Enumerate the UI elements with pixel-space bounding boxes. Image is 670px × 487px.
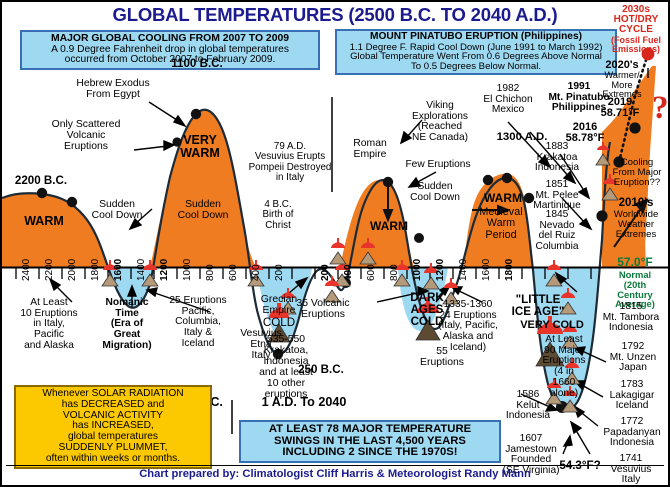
label-era-ad: 1 A.D. To 2040 [240,396,368,409]
axis-tick-600: 600 [228,264,239,281]
annotation-mt-tambora: 1815 Mt. Tambora Indonesia [594,302,668,334]
annotation-sudden-cool-1: Sudden Cool Down [80,200,154,222]
solar-radiation-info-box: Whenever SOLAR RADIATION has DECREASED a… [14,385,212,469]
annotation-roman-empire: Roman Empire [340,139,400,161]
annotation-el-chichon: 1982 El Chichon Mexico [472,84,544,116]
annotation-sudden-cool-2: Sudden Cool Down [166,200,240,222]
label-very-warm: VERY WARM [170,134,230,160]
decade-2010s-label: 2010's Worldwide Weather Extremes [604,198,668,240]
papa-line3: Indonesia [596,438,668,449]
nomanic-line5: Migration) [90,341,164,352]
axis-tick-2200: 2200 [44,259,55,281]
axis-tick-1200: 1200 [159,259,170,281]
annotation-35-volcanic: 35 Volcanic Eruptions [284,299,362,321]
axis-tick-1400: 1400 [136,259,147,281]
annotation-papadanyan: 1772 Papadanyan Indonesia [596,417,668,449]
annotation-lakagigar: 1783 Lakagigar Iceland [598,380,666,412]
label-2200-bc: 2200 B.C. [5,175,77,187]
label-2010s-line3: Extremes [604,230,668,240]
pinatubo-box-line3: To 0.5 Degrees Below Normal. [339,62,613,72]
annotation-nomanic-time: Nomanic Time (Era of Great Migration) [90,298,164,352]
axis-tick-200: 200 [274,264,285,281]
krak-line3: Indonesia [524,163,590,174]
summary-info-box: AT LEAST 78 MAJOR TEMPERATURE SWINGS IN … [239,420,501,463]
label-warm-3: WARM [474,192,532,205]
cooling-line3: Eruption?? [606,178,668,188]
annotation-vesuvius-79ad: 79 A.D. Vesuvius Erupts Pompeii Destroye… [242,142,338,183]
kelut-line3: Indonesia [500,411,556,422]
axis-tick-1000: 1000 [182,259,193,281]
axis-tick-800: 800 [389,264,400,281]
label-little-ice-age: "LITTLE ICE AGE" [502,294,574,318]
annotation-scattered-volcanic: Only Scattered Volcanic Eruptions [36,120,136,153]
cooling-eruption-label: Cooling From Major Eruption?? [606,158,668,188]
thirtyfive-line2: Eruptions [284,310,362,321]
annotation-krakatoa-1883: 1883 Krakatoa Indonesia [524,142,590,174]
annotation-mt-unzen: 1792 Mt. Unzen Japan [599,342,667,374]
label-warm-2: WARM [360,220,418,233]
hebrew-line2: From Egypt [58,90,168,101]
annotation-birth-of-christ: 4 B.C. Birth of Christ [245,200,311,231]
summary-line1: AT LEAST 78 MAJOR TEMPERATURE [244,424,496,436]
sudden3-line2: Cool Down [398,193,472,204]
unzen-line3: Japan [599,363,667,374]
annotation-hebrew-exodus: Hebrew Exodus From Egypt [58,79,168,101]
normal-temperature-value: 57.0°F [602,255,668,269]
axis-tick-400: 400 [251,264,262,281]
annotation-viking: Viking Explorations (Reached NE Canada) [398,101,482,144]
axis-tick-400: 400 [343,264,354,281]
medieval-line2: Warm [468,218,534,229]
viking-line4: NE Canada) [398,133,482,144]
axis-tick-1800: 1800 [504,259,515,281]
scattered-line3: Eruptions [36,142,136,153]
axis-tick-1000: 1000 [412,259,423,281]
annotation-25-eruptions: 25 Eruptions Pacific, Columbia, Italy & … [158,296,238,350]
yellow-line2: has DECREASED and [18,400,208,411]
pinatubo-info-box: MOUNT PINATUBO ERUPTION (Philippines) 1.… [335,29,617,75]
label-emissions: Emissions) [602,45,670,54]
v79-line4: in Italy [242,173,338,183]
ten-line5: and Alaska [8,341,90,352]
axis-tick-1600: 1600 [481,259,492,281]
annotation-medieval-warm: Medieval Warm Period [468,207,534,241]
axis-tick-1600: 1600 [113,259,124,281]
e55-line2: Eruptions [411,358,473,369]
axis-tick-200: 200 [320,264,331,281]
axis-tick-1400: 1400 [458,259,469,281]
annotation-pinatubo-point: 1991 Mt. Pinatubo Philippines [541,82,617,114]
axis-tick-1800: 1800 [90,259,101,281]
pinatubo-line3: Philippines [541,103,617,114]
cycle-2030s-label: 2030s HOT/DRY CYCLE (Fossil Fuel Emissio… [602,5,670,54]
axis-tick-2400: 2400 [21,259,32,281]
annotation-kelut: 1586 Kelut Indonesia [500,390,556,422]
annotation-few-eruptions: Few Eruptions [398,160,478,171]
credit-divider [6,465,664,466]
chichon-line3: Mexico [472,105,544,116]
roman-line2: Empire [340,150,400,161]
yellow-line7: often within weeks or months. [18,454,208,465]
nevado-line4: Columbia [524,242,590,253]
axis-tick-1200: 1200 [435,259,446,281]
tambora-line3: Indonesia [594,323,668,334]
page-title: GLOBAL TEMPERATURES (2500 B.C. TO 2040 A… [2,4,668,26]
e90-line5: 1660 [533,378,595,389]
annotation-sudden-cool-3: Sudden Cool Down [398,182,472,203]
lia-line2: ICE AGE" [502,306,574,318]
summary-line3: INCLUDING 2 SINCE THE 1970S! [244,447,496,459]
christ-line3: Christ [245,221,311,231]
k535-line5: 10 other [241,379,331,390]
very-warm-line2: WARM [170,147,230,160]
annotation-10-eruptions: At Least 10 Eruptions in Italy, Pacific … [8,298,90,352]
question-mark-icon: ? [652,90,669,127]
twentyfive-line5: Iceland [158,339,238,350]
label-warm-1: WARM [14,215,74,228]
pinatubo-box-heading: MOUNT PINATUBO ERUPTION (Philippines) [339,32,613,43]
credit-line: Chart prepared by: Climatologist Cliff H… [2,468,668,480]
sudden1-line2: Cool Down [80,211,154,222]
axis-tick-800: 800 [205,264,216,281]
annotation-krakatoa-535: 535-550 Krakatoa, Indonesia and at least… [241,335,331,401]
axis-tick-600: 600 [366,264,377,281]
axis-tick-2000: 2000 [67,259,78,281]
label-1100-bc: 1100 B.C. [159,58,235,70]
label-very-cold: VERY COLD [514,320,590,332]
medieval-line3: Period [468,230,534,241]
laka-line3: Iceland [598,401,666,412]
annotation-55-eruptions: 55 Eruptions [411,347,473,369]
sudden2-line2: Cool Down [166,211,240,222]
